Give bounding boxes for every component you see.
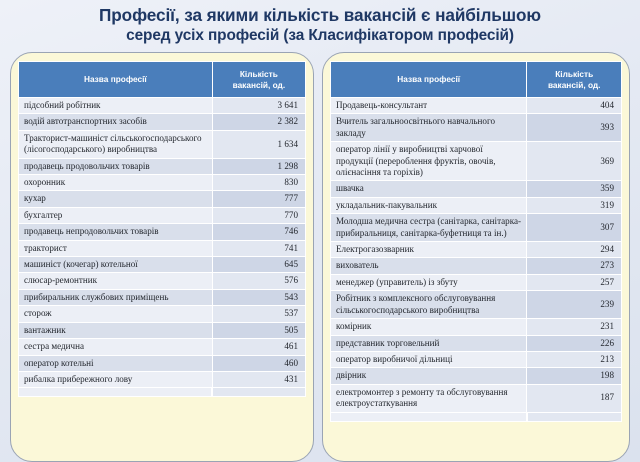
table-tail-count-cell <box>212 388 306 397</box>
table-header-row: Назва професії Кількість вакансій, од. <box>331 62 622 98</box>
table-row: Молодша медична сестра (санітарка, саніт… <box>331 214 622 242</box>
column-header-profession: Назва професії <box>331 62 527 98</box>
vacancy-count-cell: 537 <box>212 306 305 322</box>
table-row: оператор котельні460 <box>19 355 306 371</box>
profession-name-cell: двірник <box>331 368 527 384</box>
profession-name-cell: прибиральник службових приміщень <box>19 289 213 305</box>
table-row: рибалка прибережного лову431 <box>19 371 306 387</box>
profession-name-cell: оператор лінії у виробництві харчової пр… <box>331 142 527 181</box>
table-row: прибиральник службових приміщень543 <box>19 289 306 305</box>
table-row: охоронник830 <box>19 175 306 191</box>
profession-name-cell: Молодша медична сестра (санітарка, саніт… <box>331 214 527 242</box>
column-header-count: Кількість вакансій, од. <box>212 62 305 98</box>
table-row: оператор виробничої дільниці213 <box>331 351 622 367</box>
table-row: машиніст (кочегар) котельної645 <box>19 257 306 273</box>
vacancy-count-cell: 294 <box>527 242 622 258</box>
vacancy-count-cell: 187 <box>527 384 622 412</box>
vacancy-count-cell: 505 <box>212 322 305 338</box>
table-tail-name-cell <box>18 388 212 397</box>
vacancy-count-cell: 3 641 <box>212 98 305 114</box>
table-row: Вчитель загальноосвітнього навчального з… <box>331 114 622 142</box>
profession-name-cell: кухар <box>19 191 213 207</box>
vacancy-count-cell: 213 <box>527 351 622 367</box>
vacancy-count-cell: 460 <box>212 355 305 371</box>
vacancy-count-cell: 543 <box>212 289 305 305</box>
vacancy-count-cell: 741 <box>212 240 305 256</box>
profession-name-cell: сторож <box>19 306 213 322</box>
table-tail-count-cell <box>527 413 622 422</box>
profession-name-cell: слюсар-ремонтник <box>19 273 213 289</box>
profession-name-cell: сестра медична <box>19 339 213 355</box>
profession-name-cell: продавець непродовольчих товарів <box>19 224 213 240</box>
vacancy-count-cell: 461 <box>212 339 305 355</box>
profession-name-cell: електромонтер з ремонту та обслуговуванн… <box>331 384 527 412</box>
vacancy-count-cell: 369 <box>527 142 622 181</box>
vacancy-count-cell: 576 <box>212 273 305 289</box>
vacancy-count-cell: 431 <box>212 371 305 387</box>
vacancy-count-cell: 1 634 <box>212 130 305 158</box>
column-header-count-line-1: Кількість <box>240 69 278 79</box>
vacancies-table-right: Назва професії Кількість вакансій, од. П… <box>330 61 622 413</box>
profession-name-cell: менеджер (управитель) із збуту <box>331 274 527 290</box>
table-body-left: підсобний робітник3 641водій автотранспо… <box>19 98 306 388</box>
table-row: кухар777 <box>19 191 306 207</box>
table-row: продавець продовольчих товарів1 298 <box>19 158 306 174</box>
table-row: сторож537 <box>19 306 306 322</box>
table-row: двірник198 <box>331 368 622 384</box>
table-row: вихователь273 <box>331 258 622 274</box>
profession-name-cell: вантажник <box>19 322 213 338</box>
vacancy-count-cell: 359 <box>527 181 622 197</box>
vacancy-count-cell: 2 382 <box>212 114 305 130</box>
column-header-count: Кількість вакансій, од. <box>527 62 622 98</box>
profession-name-cell: Електрогазозварник <box>331 242 527 258</box>
column-header-count-line-1: Кількість <box>555 69 593 79</box>
table-row: електромонтер з ремонту та обслуговуванн… <box>331 384 622 412</box>
column-header-count-line-2: вакансій, од. <box>233 80 286 90</box>
table-header-left: Назва професії Кількість вакансій, од. <box>19 62 306 98</box>
table-tail-right <box>330 413 622 422</box>
table-header-right: Назва професії Кількість вакансій, од. <box>331 62 622 98</box>
profession-name-cell: Вчитель загальноосвітнього навчального з… <box>331 114 527 142</box>
vacancy-count-cell: 404 <box>527 98 622 114</box>
table-row: укладальник-пакувальник319 <box>331 197 622 213</box>
vacancies-card-right: Назва професії Кількість вакансій, од. П… <box>322 52 630 462</box>
profession-name-cell: продавець продовольчих товарів <box>19 158 213 174</box>
table-row: вантажник505 <box>19 322 306 338</box>
vacancy-count-cell: 307 <box>527 214 622 242</box>
vacancy-count-cell: 1 298 <box>212 158 305 174</box>
profession-name-cell: швачка <box>331 181 527 197</box>
profession-name-cell: Продавець-консультант <box>331 98 527 114</box>
vacancy-count-cell: 746 <box>212 224 305 240</box>
vacancies-card-left: Назва професії Кількість вакансій, од. п… <box>10 52 314 462</box>
vacancy-count-cell: 770 <box>212 207 305 223</box>
vacancy-count-cell: 257 <box>527 274 622 290</box>
table-row: швачка359 <box>331 181 622 197</box>
table-row: слюсар-ремонтник576 <box>19 273 306 289</box>
profession-name-cell: бухгалтер <box>19 207 213 223</box>
vacancy-count-cell: 393 <box>527 114 622 142</box>
profession-name-cell: укладальник-пакувальник <box>331 197 527 213</box>
table-row: підсобний робітник3 641 <box>19 98 306 114</box>
profession-name-cell: оператор виробничої дільниці <box>331 351 527 367</box>
vacancy-count-cell: 198 <box>527 368 622 384</box>
table-row: продавець непродовольчих товарів746 <box>19 224 306 240</box>
vacancy-count-cell: 231 <box>527 319 622 335</box>
vacancy-count-cell: 830 <box>212 175 305 191</box>
table-row: бухгалтер770 <box>19 207 306 223</box>
table-row: Тракторист-машиніст сільськогосподарсько… <box>19 130 306 158</box>
tables-container: Назва професії Кількість вакансій, од. п… <box>0 52 640 462</box>
profession-name-cell: вихователь <box>331 258 527 274</box>
profession-name-cell: Робітник з комплексного обслуговування с… <box>331 291 527 319</box>
page-title-line-1: Професії, за якими кількість вакансій є … <box>14 5 626 26</box>
vacancy-count-cell: 645 <box>212 257 305 273</box>
vacancy-count-cell: 226 <box>527 335 622 351</box>
table-tail-left <box>18 388 306 397</box>
vacancy-count-cell: 273 <box>527 258 622 274</box>
table-row: менеджер (управитель) із збуту257 <box>331 274 622 290</box>
vacancies-table-left: Назва професії Кількість вакансій, од. п… <box>18 61 306 388</box>
vacancy-count-cell: 239 <box>527 291 622 319</box>
profession-name-cell: рибалка прибережного лову <box>19 371 213 387</box>
profession-name-cell: машиніст (кочегар) котельної <box>19 257 213 273</box>
table-header-row: Назва професії Кількість вакансій, од. <box>19 62 306 98</box>
profession-name-cell: охоронник <box>19 175 213 191</box>
table-row: водій автотранспортних засобів2 382 <box>19 114 306 130</box>
table-tail-name-cell <box>330 413 527 422</box>
table-row: сестра медична461 <box>19 339 306 355</box>
vacancy-count-cell: 777 <box>212 191 305 207</box>
table-row: Продавець-консультант404 <box>331 98 622 114</box>
profession-name-cell: підсобний робітник <box>19 98 213 114</box>
table-row: Робітник з комплексного обслуговування с… <box>331 291 622 319</box>
table-body-right: Продавець-консультант404Вчитель загально… <box>331 98 622 413</box>
column-header-count-line-2: вакансій, од. <box>548 80 601 90</box>
profession-name-cell: Тракторист-машиніст сільськогосподарсько… <box>19 130 213 158</box>
vacancy-count-cell: 319 <box>527 197 622 213</box>
table-row: Електрогазозварник294 <box>331 242 622 258</box>
page-title: Професії, за якими кількість вакансій є … <box>0 0 640 46</box>
table-row: оператор лінії у виробництві харчової пр… <box>331 142 622 181</box>
table-row: представник торговельний226 <box>331 335 622 351</box>
column-header-profession: Назва професії <box>19 62 213 98</box>
profession-name-cell: водій автотранспортних засобів <box>19 114 213 130</box>
profession-name-cell: комірник <box>331 319 527 335</box>
profession-name-cell: тракторист <box>19 240 213 256</box>
table-row: тракторист741 <box>19 240 306 256</box>
table-row: комірник231 <box>331 319 622 335</box>
profession-name-cell: представник торговельний <box>331 335 527 351</box>
page-title-line-2: серед усіх професій (за Класифікатором п… <box>14 26 626 46</box>
profession-name-cell: оператор котельні <box>19 355 213 371</box>
